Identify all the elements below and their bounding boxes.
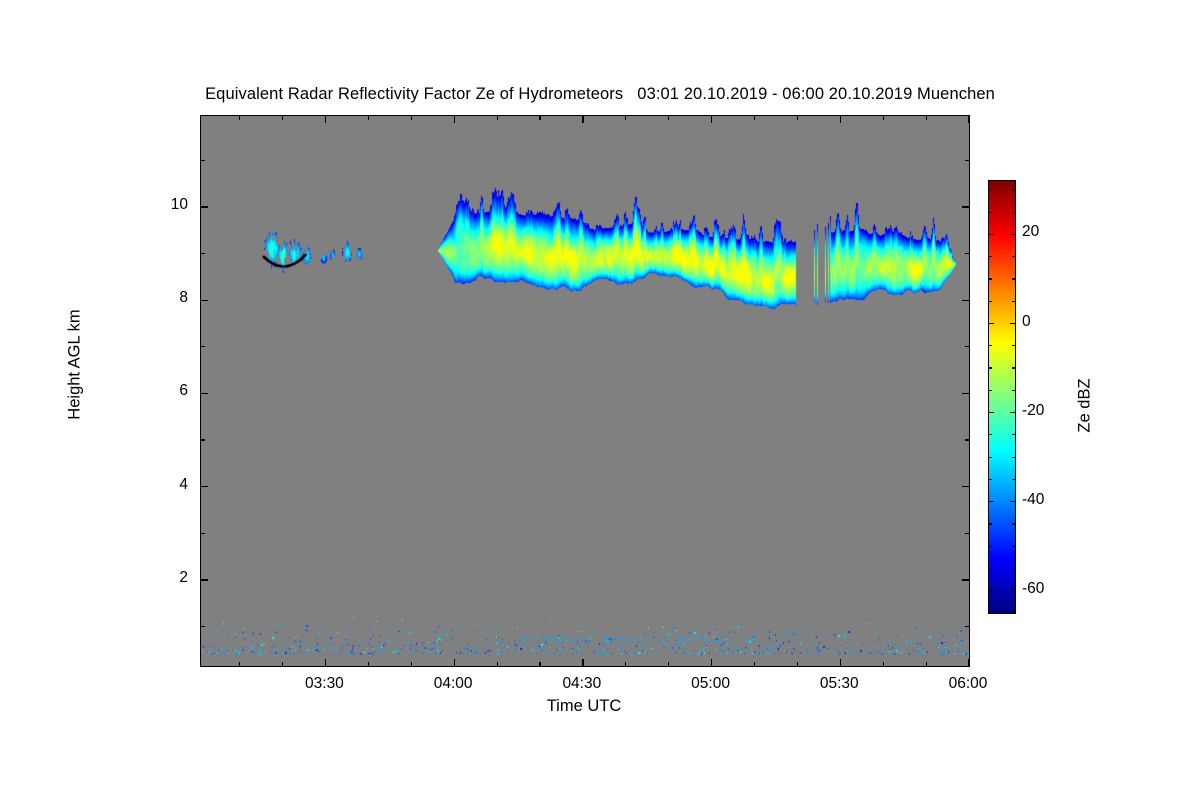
- x-minor-tick: [497, 662, 498, 666]
- x-minor-tick: [754, 662, 755, 666]
- colorbar-minor-tick: [989, 434, 992, 435]
- x-minor-tick: [497, 116, 498, 120]
- y-minor-tick: [201, 626, 205, 627]
- y-major-tick: [201, 579, 208, 580]
- colorbar-minor-tick: [1012, 256, 1015, 257]
- colorbar-major-tick: [989, 590, 994, 591]
- y-tick-label: 2: [100, 569, 188, 587]
- colorbar-minor-tick: [989, 523, 992, 524]
- y-major-tick: [962, 206, 969, 207]
- x-minor-tick: [282, 116, 283, 120]
- x-major-tick: [968, 116, 969, 123]
- colorbar-major-tick: [1010, 590, 1015, 591]
- colorbar-minor-tick: [989, 345, 992, 346]
- colorbar-major-tick: [989, 234, 994, 235]
- colorbar-major-tick: [989, 323, 994, 324]
- colorbar-minor-tick: [1012, 278, 1015, 279]
- x-tick-label: 05:30: [794, 675, 884, 693]
- x-major-tick: [325, 659, 326, 666]
- colorbar-minor-tick: [1012, 212, 1015, 213]
- colorbar-minor-tick: [989, 457, 992, 458]
- x-major-tick: [968, 659, 969, 666]
- y-minor-tick: [201, 160, 205, 161]
- x-minor-tick: [668, 116, 669, 120]
- x-minor-tick: [239, 116, 240, 120]
- y-major-tick: [962, 486, 969, 487]
- colorbar-tick-label: 20: [1022, 223, 1039, 241]
- x-tick-label: 05:00: [666, 675, 756, 693]
- x-major-tick: [582, 116, 583, 123]
- y-minor-tick: [965, 439, 969, 440]
- x-tick-label: 04:30: [537, 675, 627, 693]
- y-minor-tick: [201, 253, 205, 254]
- x-major-tick: [711, 116, 712, 123]
- y-minor-tick: [965, 160, 969, 161]
- x-axis-title: Time UTC: [200, 697, 968, 716]
- x-major-tick: [711, 659, 712, 666]
- radar-reflectivity-heatmap: [201, 116, 969, 666]
- colorbar-minor-tick: [1012, 612, 1015, 613]
- colorbar: [988, 180, 1016, 614]
- y-minor-tick: [201, 346, 205, 347]
- x-minor-tick: [668, 662, 669, 666]
- x-major-tick: [582, 659, 583, 666]
- x-tick-label: 06:00: [923, 675, 1013, 693]
- colorbar-minor-tick: [989, 278, 992, 279]
- radar-figure: Equivalent Radar Reflectivity Factor Ze …: [0, 0, 1200, 800]
- y-major-tick: [201, 206, 208, 207]
- y-minor-tick: [965, 346, 969, 347]
- y-minor-tick: [965, 533, 969, 534]
- y-tick-label: 8: [100, 289, 188, 307]
- y-tick-label: 4: [100, 476, 188, 494]
- x-minor-tick: [282, 662, 283, 666]
- x-minor-tick: [883, 116, 884, 120]
- colorbar-gradient: [989, 181, 1015, 613]
- colorbar-tick-label: 0: [1022, 313, 1031, 331]
- x-minor-tick: [411, 662, 412, 666]
- x-minor-tick: [625, 662, 626, 666]
- colorbar-title: Ze dBZ: [1076, 306, 1095, 506]
- x-major-tick: [840, 659, 841, 666]
- x-minor-tick: [368, 662, 369, 666]
- colorbar-minor-tick: [989, 212, 992, 213]
- x-major-tick: [454, 116, 455, 123]
- y-major-tick: [962, 579, 969, 580]
- x-minor-tick: [883, 662, 884, 666]
- colorbar-tick-label: -20: [1022, 402, 1044, 420]
- y-major-tick: [962, 393, 969, 394]
- colorbar-major-tick: [1010, 412, 1015, 413]
- y-minor-tick: [965, 626, 969, 627]
- colorbar-minor-tick: [1012, 434, 1015, 435]
- x-major-tick: [840, 116, 841, 123]
- colorbar-minor-tick: [989, 256, 992, 257]
- colorbar-minor-tick: [989, 390, 992, 391]
- x-minor-tick: [539, 662, 540, 666]
- colorbar-minor-tick: [1012, 345, 1015, 346]
- colorbar-tick-label: -40: [1022, 491, 1044, 509]
- y-minor-tick: [201, 439, 205, 440]
- colorbar-major-tick: [989, 412, 994, 413]
- colorbar-minor-tick: [1012, 390, 1015, 391]
- x-tick-label: 04:00: [408, 675, 498, 693]
- page-title: Equivalent Radar Reflectivity Factor Ze …: [0, 85, 1200, 104]
- y-tick-label: 10: [100, 196, 188, 214]
- colorbar-minor-tick: [989, 546, 992, 547]
- y-axis-title: Height AGL km: [66, 235, 85, 495]
- x-minor-tick: [368, 116, 369, 120]
- colorbar-tick-label: -60: [1022, 580, 1044, 598]
- colorbar-minor-tick: [1012, 523, 1015, 524]
- y-minor-tick: [965, 253, 969, 254]
- x-major-tick: [325, 116, 326, 123]
- colorbar-minor-tick: [989, 301, 992, 302]
- y-major-tick: [201, 486, 208, 487]
- colorbar-minor-tick: [1012, 479, 1015, 480]
- x-minor-tick: [411, 116, 412, 120]
- colorbar-major-tick: [1010, 501, 1015, 502]
- colorbar-minor-tick: [989, 612, 992, 613]
- colorbar-minor-tick: [989, 568, 992, 569]
- colorbar-major-tick: [1010, 323, 1015, 324]
- colorbar-minor-tick: [989, 479, 992, 480]
- colorbar-minor-tick: [1012, 568, 1015, 569]
- x-minor-tick: [926, 662, 927, 666]
- colorbar-major-tick: [989, 501, 994, 502]
- colorbar-minor-tick: [1012, 367, 1015, 368]
- x-minor-tick: [625, 116, 626, 120]
- y-major-tick: [962, 300, 969, 301]
- colorbar-minor-tick: [989, 367, 992, 368]
- plot-area: [200, 115, 970, 667]
- colorbar-minor-tick: [1012, 189, 1015, 190]
- colorbar-minor-tick: [1012, 301, 1015, 302]
- x-minor-tick: [797, 662, 798, 666]
- colorbar-minor-tick: [1012, 457, 1015, 458]
- x-tick-label: 03:30: [279, 675, 369, 693]
- y-major-tick: [201, 393, 208, 394]
- x-minor-tick: [754, 116, 755, 120]
- y-minor-tick: [201, 533, 205, 534]
- x-minor-tick: [926, 116, 927, 120]
- x-major-tick: [454, 659, 455, 666]
- x-minor-tick: [239, 662, 240, 666]
- x-minor-tick: [539, 116, 540, 120]
- y-tick-label: 6: [100, 382, 188, 400]
- colorbar-minor-tick: [1012, 546, 1015, 547]
- x-minor-tick: [797, 116, 798, 120]
- colorbar-major-tick: [1010, 234, 1015, 235]
- y-major-tick: [201, 300, 208, 301]
- colorbar-minor-tick: [989, 189, 992, 190]
